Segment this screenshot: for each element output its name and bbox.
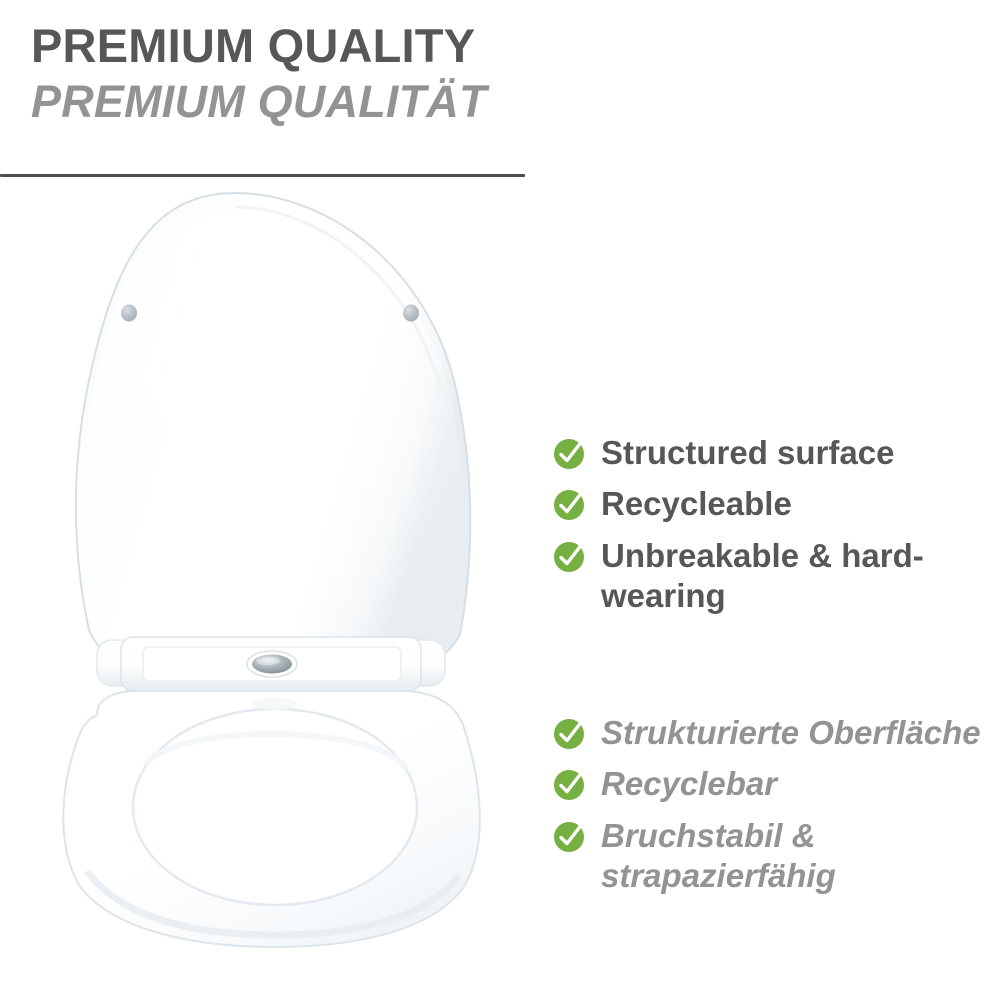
- check-circle-icon: [553, 767, 587, 801]
- product-seat-opening: [133, 709, 417, 905]
- product-hinge: [97, 637, 445, 691]
- feature-item: Bruchstabil & strapazierfähig: [553, 816, 983, 897]
- product-seat-ring: [63, 691, 479, 947]
- check-circle-icon: [553, 819, 587, 853]
- lid-bumper-right: [403, 305, 419, 322]
- feature-list-german: Strukturierte Oberfläche Recyclebar Bruc…: [553, 713, 983, 907]
- check-circle-icon: [553, 716, 587, 750]
- check-circle-icon: [553, 436, 587, 470]
- page-title-english: PREMIUM QUALITY: [31, 22, 671, 70]
- page-title-german: PREMIUM QUALITÄT: [31, 78, 671, 127]
- feature-label: Strukturierte Oberfläche: [601, 713, 981, 753]
- feature-list-english: Structured surface Recycleable Unbreakab…: [553, 433, 983, 627]
- header-block: PREMIUM QUALITY PREMIUM QUALITÄT: [31, 22, 671, 127]
- lid-bumper-left: [121, 305, 137, 322]
- check-circle-icon: [553, 539, 587, 573]
- feature-item: Recycleable: [553, 484, 983, 524]
- check-circle-icon: [553, 487, 587, 521]
- feature-item: Unbreakable & hard-wearing: [553, 536, 983, 617]
- feature-label: Recyclebar: [601, 764, 777, 804]
- feature-label: Structured surface: [601, 433, 894, 473]
- quick-release-button: [247, 651, 297, 677]
- feature-item: Strukturierte Oberfläche: [553, 713, 983, 753]
- feature-item: Structured surface: [553, 433, 983, 473]
- product-lid: [76, 193, 470, 668]
- header-divider: [0, 174, 525, 177]
- feature-item: Recyclebar: [553, 764, 983, 804]
- feature-label: Recycleable: [601, 484, 792, 524]
- feature-label: Bruchstabil & strapazierfähig: [601, 816, 983, 897]
- feature-label: Unbreakable & hard-wearing: [601, 536, 983, 617]
- product-image-toilet-seat: [35, 185, 505, 960]
